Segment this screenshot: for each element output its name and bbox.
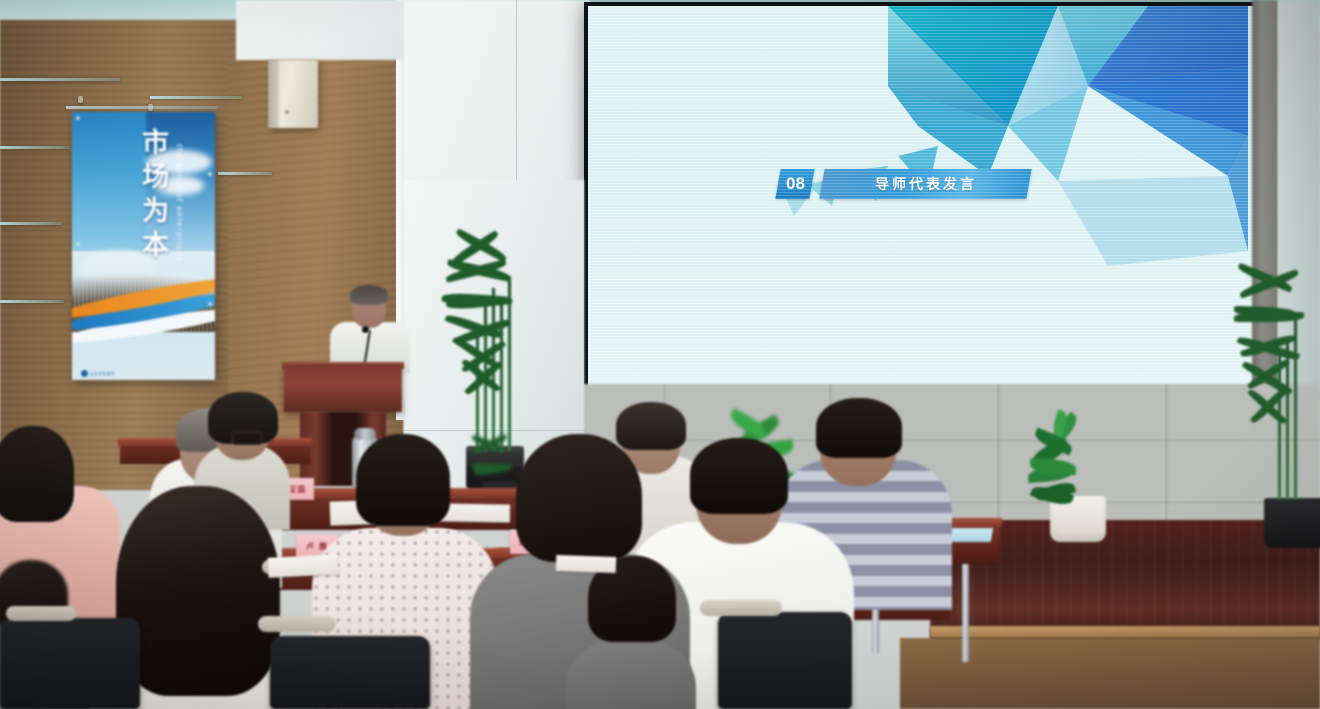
slide-title-block: 08 导师代表发言 — [778, 169, 1029, 199]
desk-leg — [962, 552, 969, 662]
shelf-pin — [78, 96, 83, 103]
podium — [284, 366, 402, 412]
thermos-cap — [354, 428, 376, 440]
poster-rail — [66, 106, 218, 109]
poster-logo-mark — [81, 370, 88, 377]
chair[interactable] — [0, 618, 140, 709]
glass-shelf — [0, 146, 70, 149]
chair[interactable] — [270, 636, 430, 709]
poster-subtitle: the spirit of enterprises — [175, 144, 184, 262]
white-wall-upper — [236, 0, 412, 60]
microphone-icon — [362, 326, 369, 333]
projection-screen[interactable]: 08 导师代表发言 — [588, 6, 1256, 388]
wall-poster: 市场为本 the spirit of enterprises 企业文化宣传 — [72, 112, 215, 380]
glass-shelf — [0, 300, 64, 303]
poster-brand-text: 企业文化宣传 — [90, 371, 115, 377]
glass-shelf — [0, 222, 62, 225]
document-paper — [440, 503, 510, 522]
poster-logo: 企业文化宣传 — [81, 370, 115, 377]
plant-pot — [1264, 498, 1320, 548]
plant-palm-far-right — [1230, 268, 1320, 558]
chair-armrest[interactable] — [6, 606, 76, 621]
document-paper — [556, 555, 617, 573]
projection-screen-frame: 08 导师代表发言 — [584, 2, 1260, 392]
document-paper — [268, 554, 339, 578]
stage-edge-trim — [930, 626, 1320, 638]
chair-armrest[interactable] — [700, 600, 782, 616]
slide-number-badge: 08 — [775, 169, 814, 199]
glass-shelf — [218, 172, 272, 175]
wall-speaker-icon — [268, 60, 318, 128]
glass-shelf — [0, 78, 120, 81]
chair[interactable] — [718, 612, 852, 709]
chair-armrest[interactable] — [258, 616, 336, 632]
conference-room-photo: 市场为本 the spirit of enterprises 企业文化宣传 — [0, 0, 1320, 709]
slide-number: 08 — [786, 174, 805, 194]
slide-title-bar: 导师代表发言 — [819, 169, 1031, 199]
presenter-hair — [350, 285, 388, 305]
glass-shelf — [150, 96, 242, 99]
slide-title-text: 导师代表发言 — [875, 174, 977, 194]
plant-peace-lily-right — [1016, 424, 1146, 544]
poster-headline: 市场为本 — [129, 128, 172, 264]
